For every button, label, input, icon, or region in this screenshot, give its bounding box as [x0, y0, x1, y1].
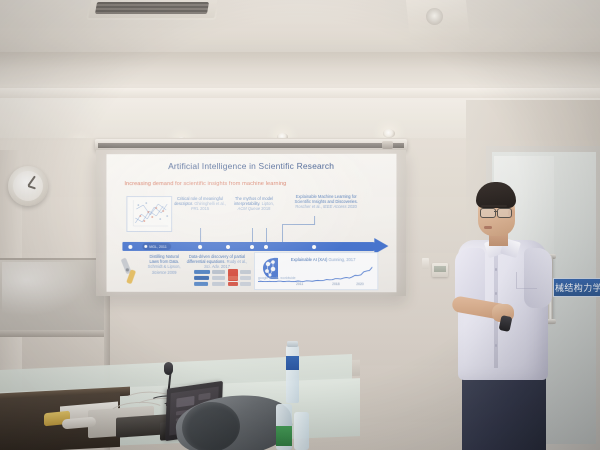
pendulum-icon: [120, 256, 142, 286]
leader-line: [282, 224, 314, 225]
presenter-mouth: [484, 226, 492, 229]
downlight-icon: [383, 129, 395, 138]
citation-below-3: Explainable AI (XAI) Gunning, 2017: [290, 257, 356, 262]
presentation-room-photo: Artificial Intelligence in Scientific Re…: [0, 0, 600, 450]
timeline-dot: [226, 244, 230, 248]
leader-line: [252, 228, 253, 242]
logo-chip: [194, 282, 208, 286]
logo-chip: [212, 282, 225, 286]
timeline-marker-label: MGL, 2011: [149, 244, 166, 248]
whiteboard-marker-tray: [0, 330, 106, 337]
air-vent-grille: [95, 2, 209, 14]
trend-xtick-2018: 2018: [332, 282, 340, 286]
trend-xtick-2011: 2011: [296, 282, 303, 286]
marker-dot-icon: [144, 245, 147, 248]
whiteboard-glare: [2, 262, 98, 322]
logo-chip: [240, 282, 251, 286]
descriptor-plot-thumbnail: [126, 196, 172, 232]
logo-chip: [240, 276, 251, 280]
bottle-label: [276, 426, 292, 446]
microphone-icon: [164, 362, 173, 375]
presenter-view-pane: [176, 396, 194, 408]
leader-line: [200, 228, 201, 242]
leader-line: [266, 228, 267, 242]
leader-line: [282, 224, 283, 242]
logo-chip: [194, 270, 210, 274]
timeline-dot: [250, 244, 254, 248]
timeline-dot: [198, 244, 202, 248]
logo-chip: [240, 270, 251, 274]
trend-xtick-2020: 2020: [356, 282, 364, 286]
light-switch[interactable]: [422, 258, 429, 269]
eyeglasses-icon: [497, 208, 512, 218]
slide-title: Artificial Intelligence in Scientific Re…: [107, 161, 397, 171]
projector-screen-knob: [382, 141, 393, 149]
presenter-eyebrow: [481, 205, 507, 207]
timeline-dot: [128, 244, 132, 248]
leader-line: [314, 216, 315, 225]
citation-above-1: Critical role of meaningful descriptor. …: [174, 196, 226, 212]
timeline-dot: [312, 245, 316, 249]
water-bottle[interactable]: [294, 412, 309, 450]
ceiling-spotlight-icon: [426, 8, 443, 25]
presenter-trousers: [462, 372, 546, 450]
slide-subtitle: Increasing demand for scientific insight…: [124, 181, 374, 187]
timeline-dot: [264, 245, 268, 249]
eyeglasses-bridge: [494, 211, 497, 212]
shirt-button: [495, 344, 498, 347]
projector-screen-roller: [98, 143, 404, 148]
company-logo-strip: [194, 270, 252, 288]
logo-chip: [212, 276, 225, 280]
bottle-cap: [287, 341, 298, 347]
presenter-view-pane: [198, 393, 210, 401]
shirt-button: [495, 292, 498, 295]
logo-chip: [212, 270, 225, 274]
projected-slide: Artificial Intelligence in Scientific Re…: [107, 154, 397, 292]
logo-chip: [194, 276, 209, 280]
xai-trend-chart: [258, 266, 372, 282]
citation-below-1: Distilling Natural Laws from Data. Schmi…: [146, 254, 182, 275]
citation-above-2: The mythos of model interpretability. Li…: [230, 196, 278, 212]
citation-above-3: Explainable Machine Learning for Scienti…: [288, 194, 364, 210]
shirt-pocket: [516, 272, 537, 289]
timeline-marker-mgl: MGL, 2011: [142, 243, 170, 250]
logo-chip: [228, 276, 238, 280]
eyeglasses-icon: [480, 208, 496, 218]
logo-chip: [228, 282, 238, 286]
shirt-button: [495, 268, 498, 271]
water-bottle[interactable]: [286, 345, 299, 403]
bottle-label: [286, 356, 299, 370]
citation-below-2: Data-driven discovery of partial differe…: [186, 254, 248, 270]
